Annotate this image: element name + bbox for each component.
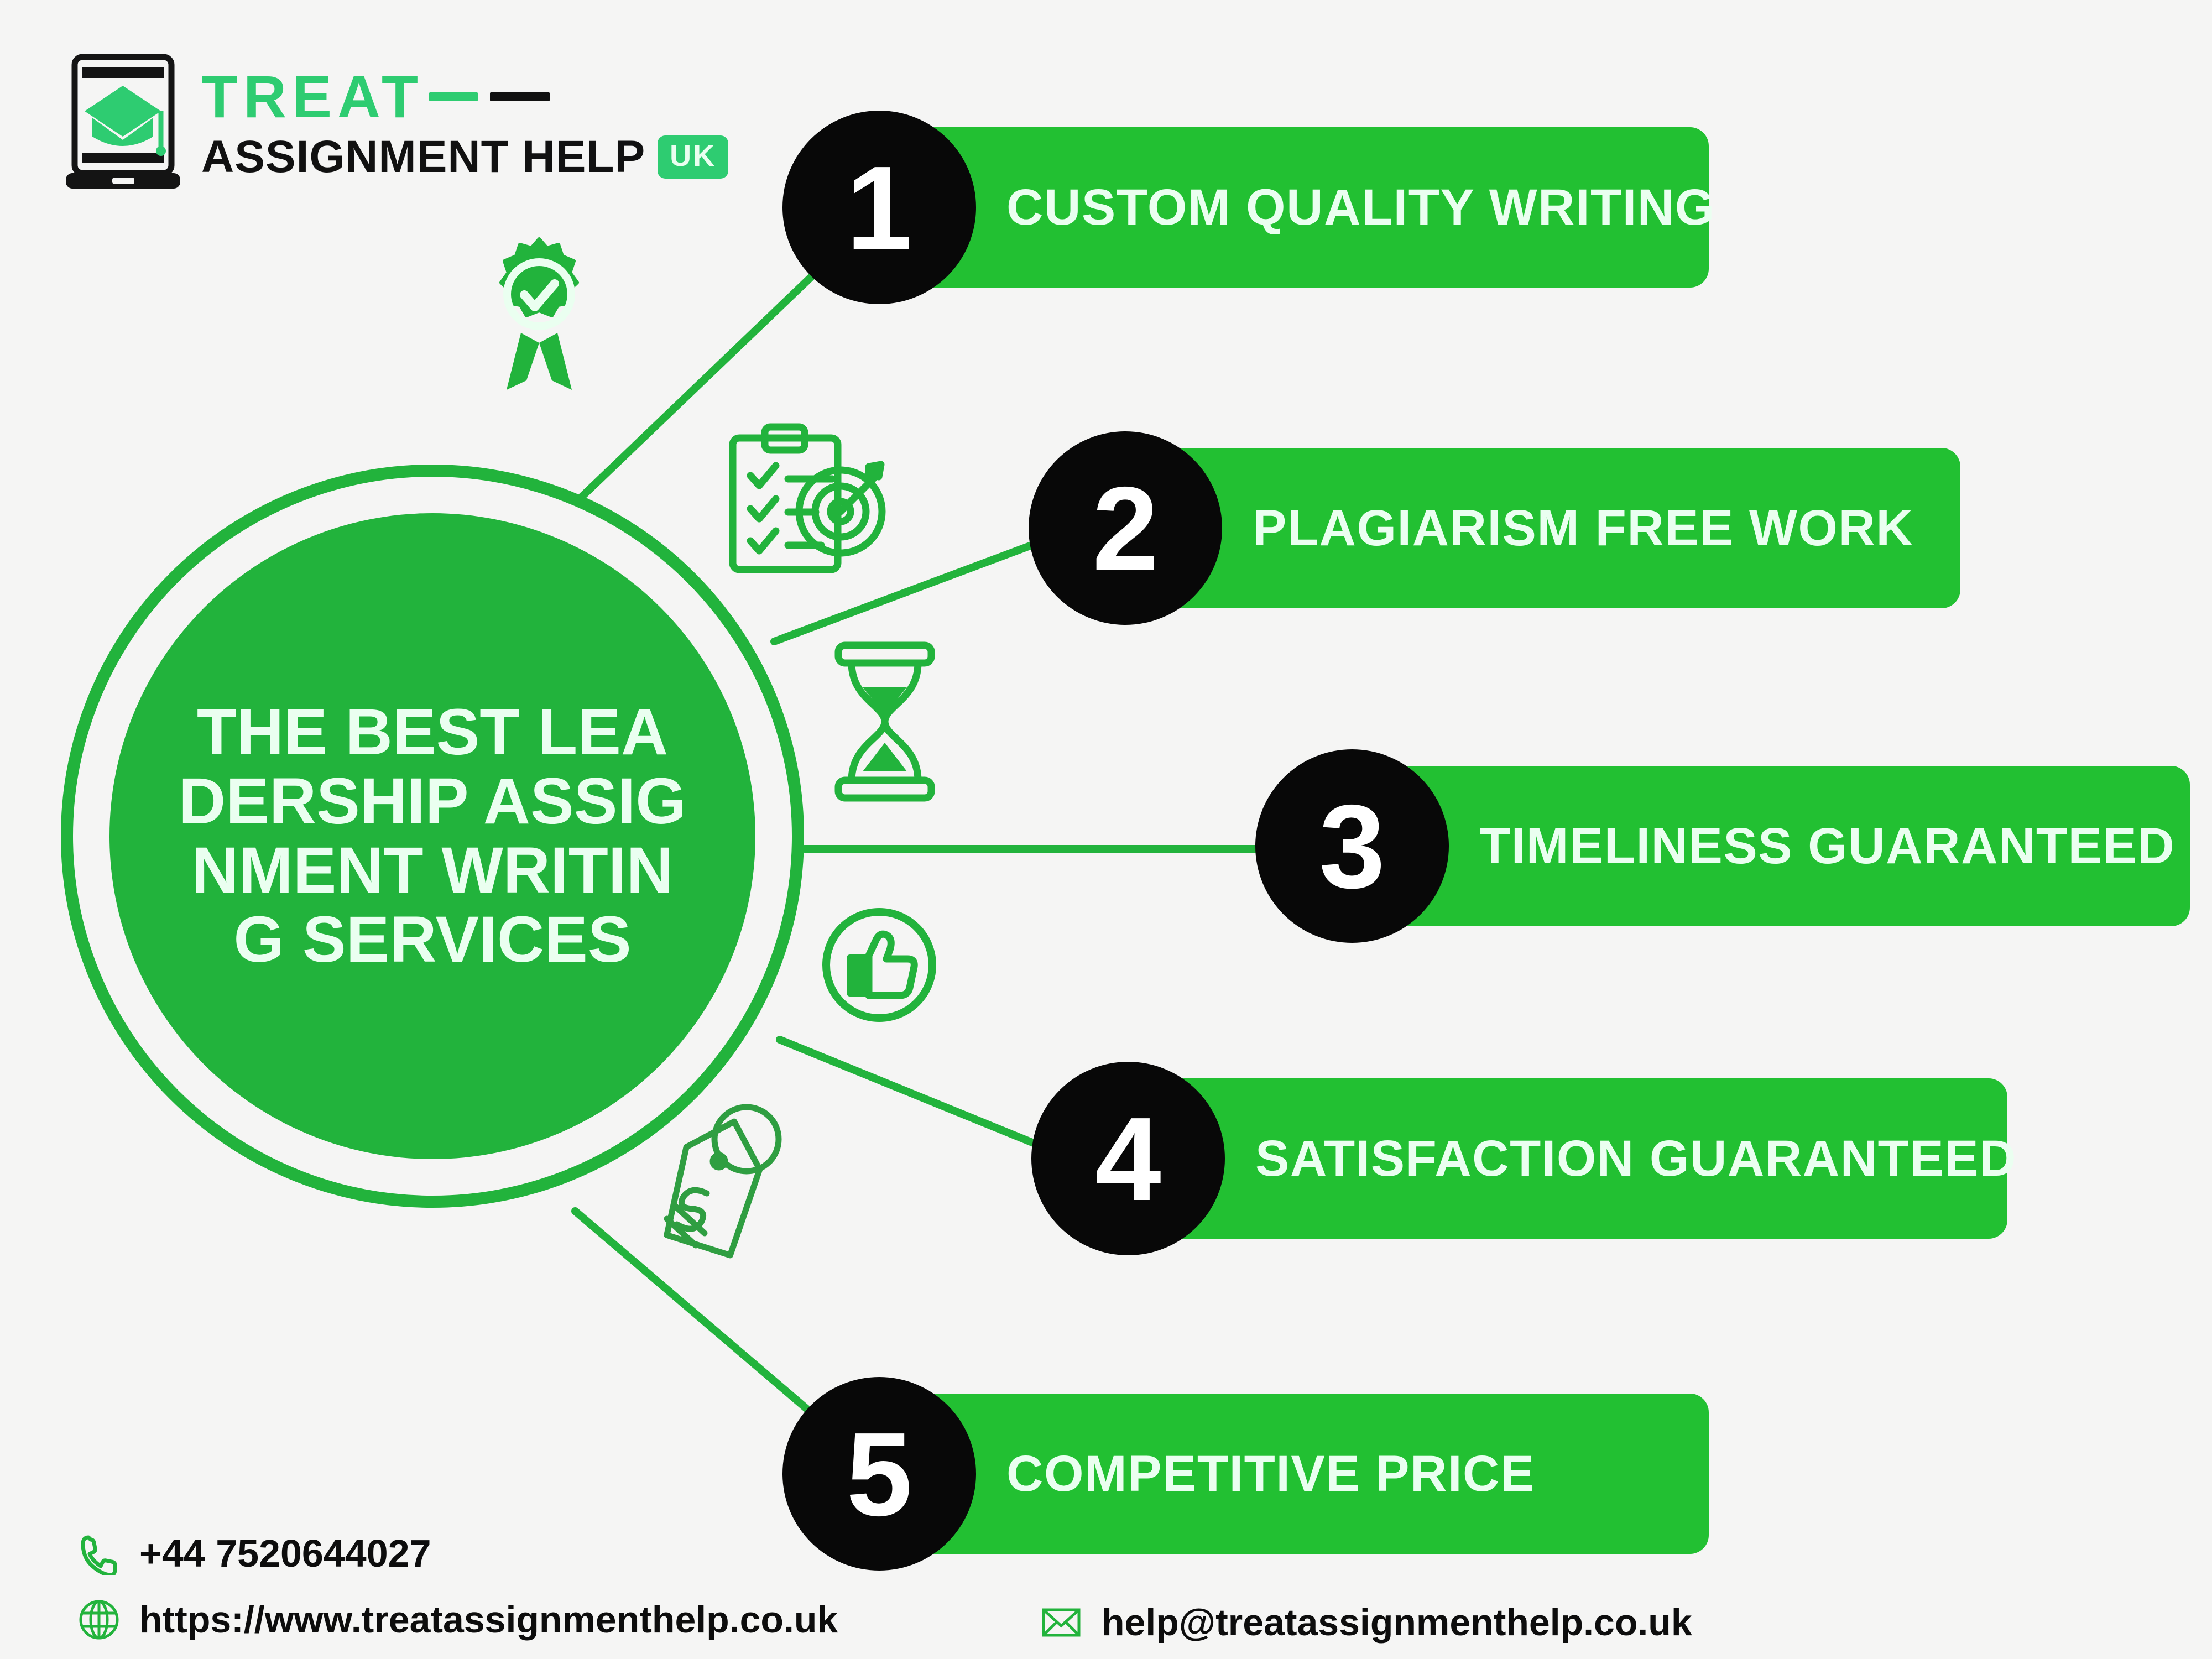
contact-phone[interactable]: +44 7520644027 bbox=[77, 1532, 431, 1575]
brand-name-secondary: ASSIGNMENT HELP bbox=[201, 134, 645, 180]
feature-number-1: 1 bbox=[782, 111, 976, 304]
feature-number-4: 4 bbox=[1031, 1062, 1225, 1255]
feature-row-4[interactable]: 4 SATISFACTION GUARANTEED bbox=[1031, 1062, 2007, 1255]
email-value: help@treatassignmenthelp.co.uk bbox=[1102, 1604, 1692, 1641]
feature-label-3: TIMELINESS GUARANTEED bbox=[1479, 817, 2175, 875]
contact-website[interactable]: https://www.treatassignmenthelp.co.uk bbox=[77, 1598, 838, 1641]
feature-label-2: PLAGIARISM FREE WORK bbox=[1253, 499, 1913, 557]
graduation-cap-laptop-icon bbox=[58, 53, 188, 194]
center-headline: THE BEST LEADERSHIP ASSIGNMENT WRITING S… bbox=[176, 698, 689, 974]
website-value: https://www.treatassignmenthelp.co.uk bbox=[139, 1601, 838, 1639]
feature-number-5: 5 bbox=[782, 1377, 976, 1571]
feature-label-1: CUSTOM QUALITY WRITING bbox=[1006, 179, 1715, 237]
globe-icon bbox=[77, 1598, 121, 1641]
infographic-canvas: TREAT ASSIGNMENT HELP UK THE BEST LEADER… bbox=[0, 0, 2212, 1659]
logo-dash-black-icon bbox=[490, 92, 550, 101]
feature-bar-4[interactable]: SATISFACTION GUARANTEED bbox=[1128, 1078, 2007, 1239]
feature-number-3: 3 bbox=[1255, 749, 1449, 943]
center-headline-container: THE BEST LEADERSHIP ASSIGNMENT WRITING S… bbox=[109, 513, 755, 1159]
feature-row-1[interactable]: 1 CUSTOM QUALITY WRITING bbox=[782, 111, 1709, 304]
feature-row-5[interactable]: 5 COMPETITIVE PRICE bbox=[782, 1377, 1709, 1571]
envelope-icon bbox=[1040, 1601, 1083, 1644]
feature-bar-3[interactable]: TIMELINESS GUARANTEED bbox=[1352, 766, 2190, 926]
feature-row-2[interactable]: 2 PLAGIARISM FREE WORK bbox=[1029, 431, 1960, 625]
brand-wordmark: TREAT ASSIGNMENT HELP UK bbox=[201, 67, 728, 180]
feature-label-4: SATISFACTION GUARANTEED bbox=[1255, 1130, 2017, 1188]
feature-number-2: 2 bbox=[1029, 431, 1222, 625]
clipboard-checklist-target-icon bbox=[722, 420, 904, 583]
phone-value: +44 7520644027 bbox=[139, 1534, 431, 1573]
thumbs-up-circle-icon bbox=[816, 901, 943, 1031]
brand-logo[interactable]: TREAT ASSIGNMENT HELP UK bbox=[58, 53, 728, 194]
feature-row-3[interactable]: 3 TIMELINESS GUARANTEED bbox=[1255, 749, 2190, 943]
feature-label-5: COMPETITIVE PRICE bbox=[1006, 1445, 1535, 1503]
feature-bar-5[interactable]: COMPETITIVE PRICE bbox=[879, 1394, 1709, 1554]
brand-name-primary: TREAT bbox=[201, 67, 424, 127]
phone-icon bbox=[77, 1532, 121, 1575]
logo-dash-green-icon bbox=[429, 92, 478, 101]
award-ribbon-check-icon bbox=[487, 232, 592, 395]
hourglass-icon bbox=[824, 639, 946, 807]
feature-bar-2[interactable]: PLAGIARISM FREE WORK bbox=[1125, 448, 1960, 608]
contact-email[interactable]: help@treatassignmenthelp.co.uk bbox=[1040, 1601, 1692, 1644]
price-tag-dollar-icon bbox=[636, 1100, 813, 1269]
region-badge-uk: UK bbox=[658, 135, 728, 179]
feature-bar-1[interactable]: CUSTOM QUALITY WRITING bbox=[879, 127, 1709, 288]
